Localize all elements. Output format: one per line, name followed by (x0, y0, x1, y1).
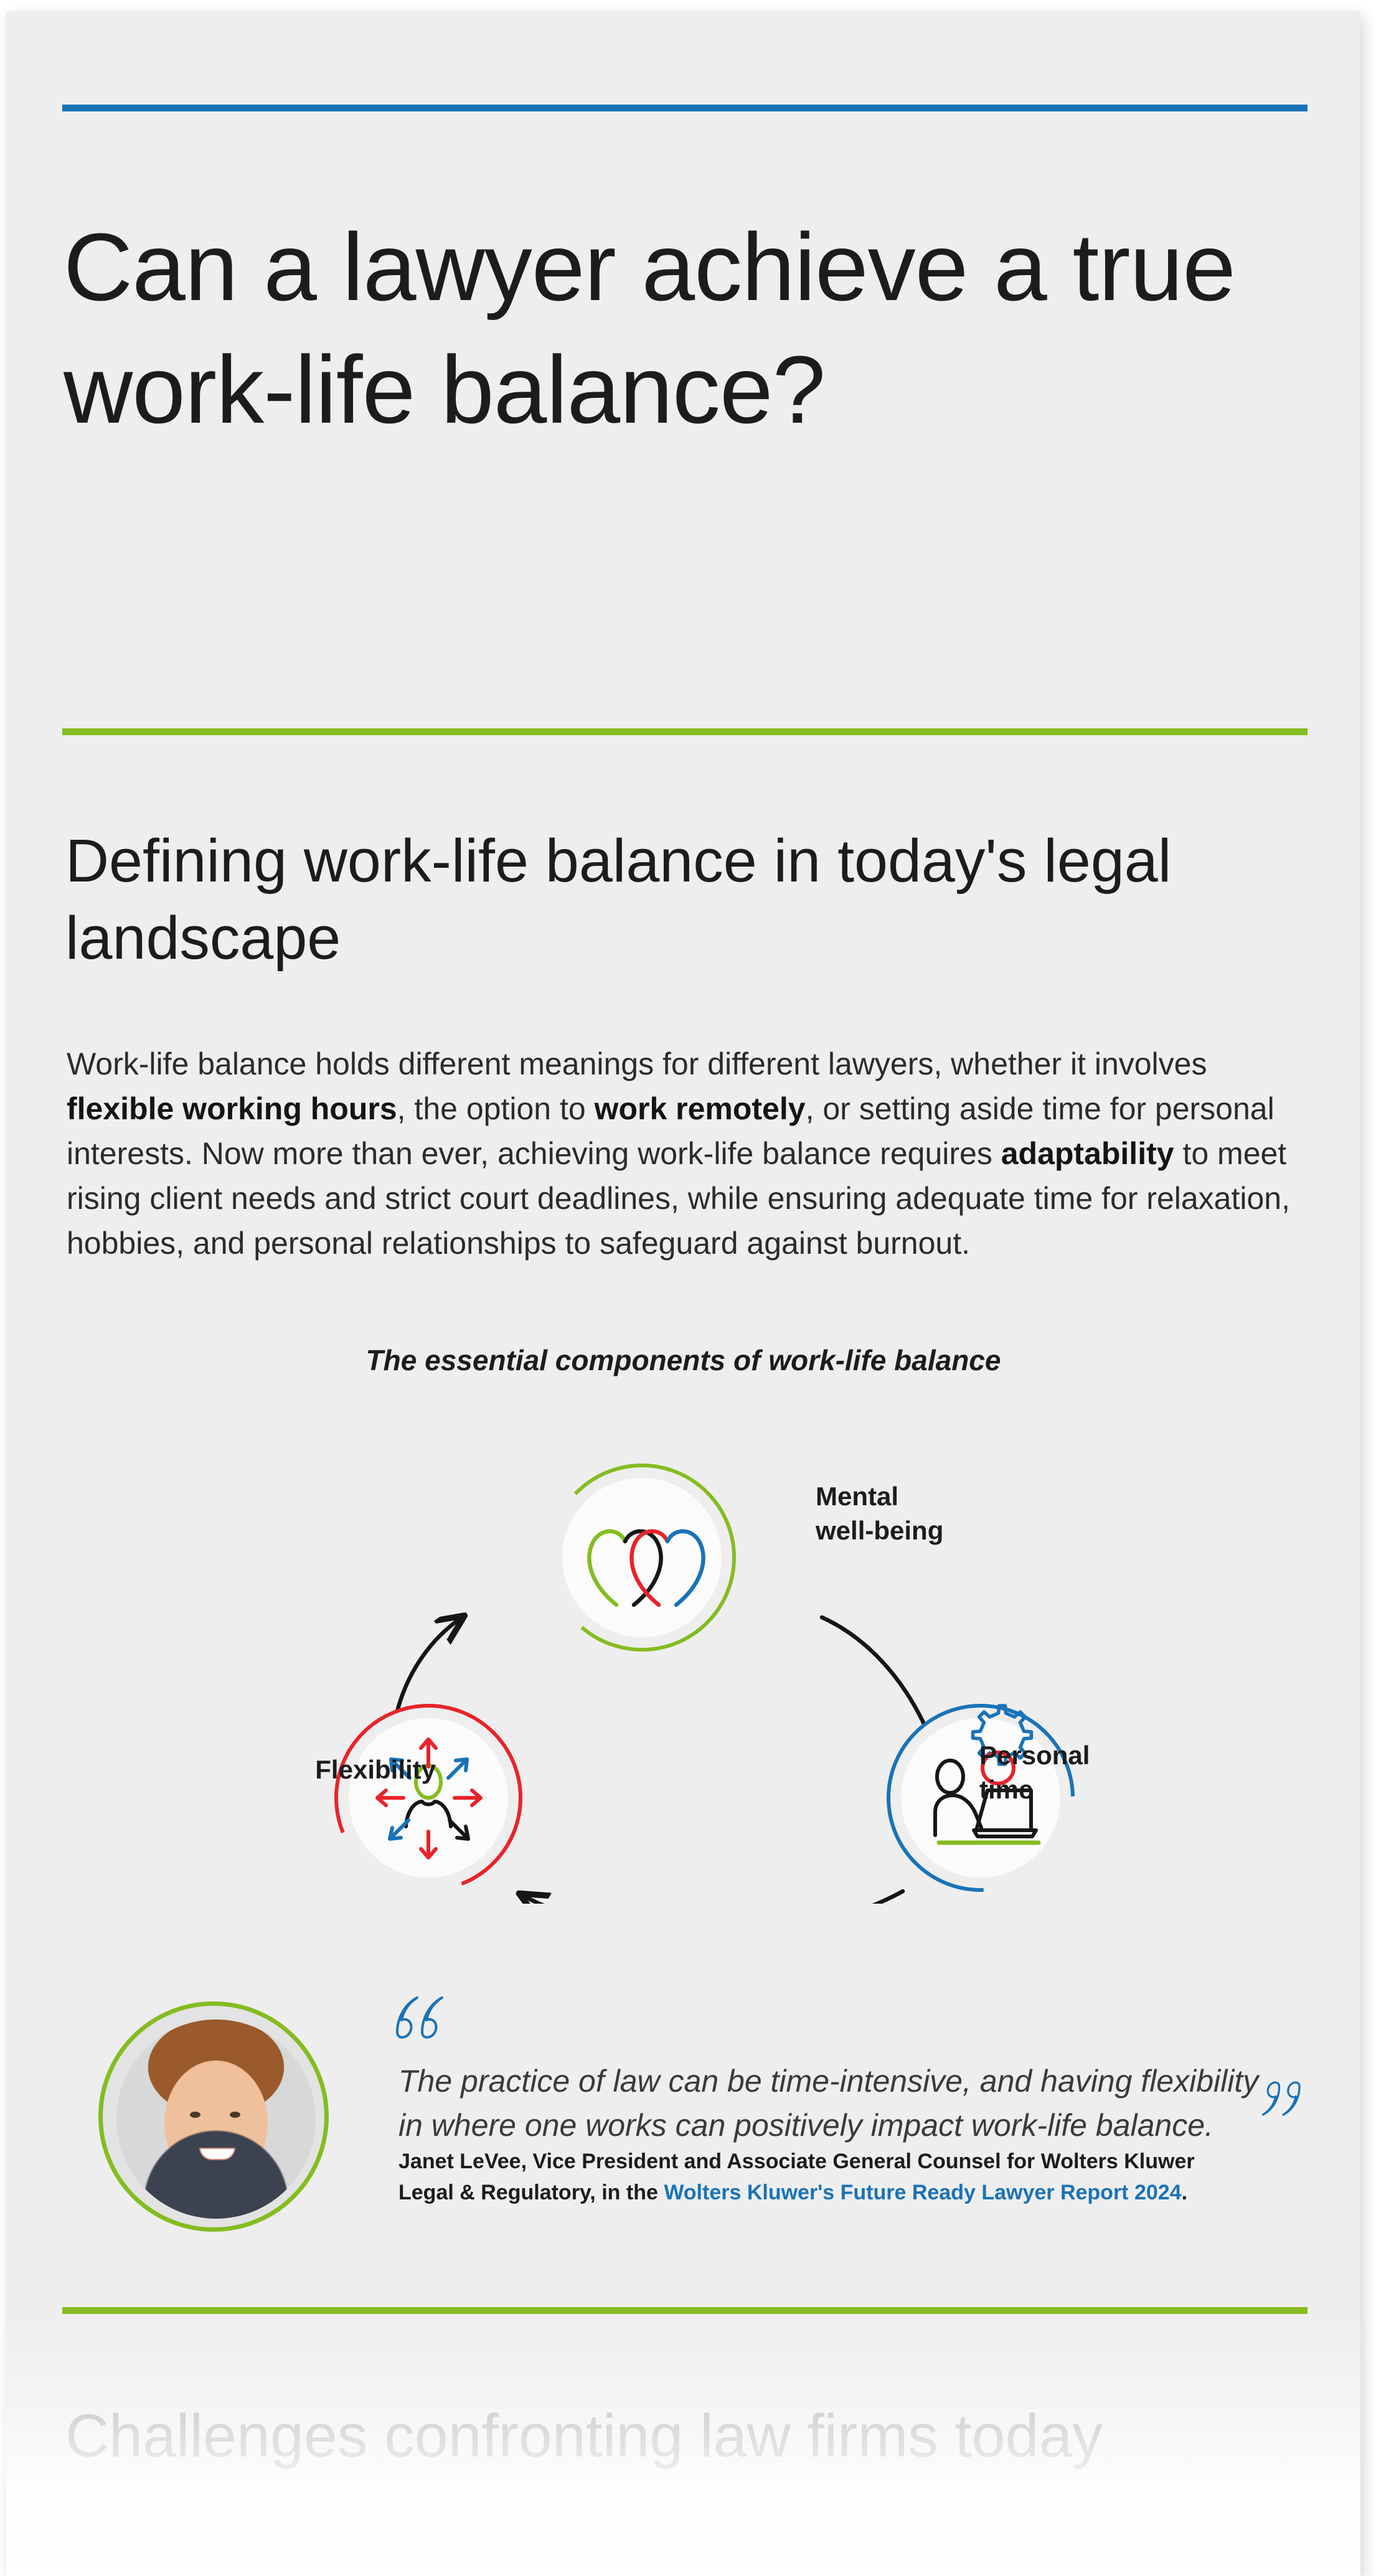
work-life-balance-cycle-diagram (243, 1399, 1152, 1904)
diagram-caption: The essential components of work-life ba… (6, 1343, 1360, 1377)
section-paragraph: Work-life balance holds different meanin… (67, 1041, 1315, 1266)
diagram-node-mental-well-being (549, 1464, 735, 1651)
paragraph-part-2: , the option to (397, 1091, 595, 1126)
avatar-eye-left (190, 2112, 200, 2118)
paragraph-emphasis-2: work remotely (595, 1091, 806, 1126)
attribution-suffix: . (1182, 2181, 1187, 2204)
page-title: Can a lawyer achieve a true work-life ba… (64, 206, 1315, 451)
bottom-section-heading: Challenges confronting law firms today (65, 2397, 1304, 2475)
arrow-personal-to-flexibility (522, 1891, 903, 1904)
quote-attribution: Janet LeVee, Vice President and Associat… (398, 2146, 1208, 2208)
diagram-label-personal-time: Personal time (979, 1739, 1204, 1807)
avatar (98, 2001, 329, 2232)
divider-green-top (62, 728, 1308, 735)
section-heading: Defining work-life balance in today's le… (65, 822, 1304, 977)
paragraph-emphasis-1: flexible working hours (67, 1091, 397, 1126)
paragraph-part-1: Work-life balance holds different meanin… (67, 1046, 1207, 1081)
avatar-mouth (199, 2148, 235, 2160)
label-line-1: Personal (979, 1739, 1204, 1773)
divider-green-bottom (62, 2307, 1308, 2314)
avatar-eye-right (230, 2112, 240, 2118)
diagram-label-flexibility: Flexibility (212, 1753, 436, 1787)
attribution-link[interactable]: Wolters Kluwer's Future Ready Lawyer Rep… (664, 2181, 1181, 2204)
diagram-label-mental-well-being: Mental well-being (816, 1480, 1052, 1548)
paragraph-emphasis-3: adaptability (1001, 1136, 1174, 1171)
label-line-2: well-being (816, 1514, 1052, 1548)
quote-close-icon (1259, 2072, 1303, 2128)
quote-text: The practice of law can be time-intensiv… (398, 2059, 1270, 2148)
label-line-1: Mental (816, 1480, 1052, 1514)
label-line-1: Flexibility (212, 1753, 436, 1787)
quote-open-icon (393, 1980, 447, 2053)
diagram-node-flexibility (335, 1704, 522, 1891)
divider-blue (62, 105, 1308, 111)
avatar-photo (116, 2019, 316, 2219)
infographic-card: Can a lawyer achieve a true work-life ba… (6, 11, 1360, 2576)
label-line-2: time (979, 1773, 1204, 1807)
